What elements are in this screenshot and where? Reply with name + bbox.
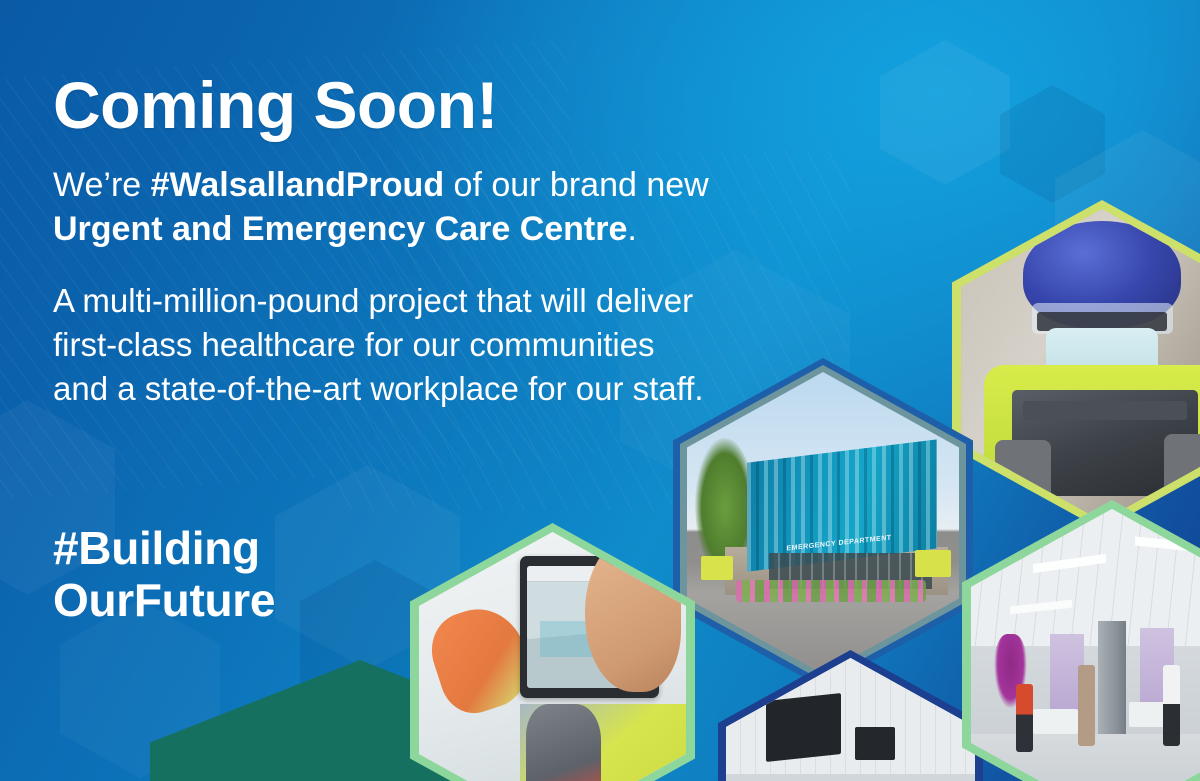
campaign-hashtag-line-2: OurFuture [53,575,275,627]
ward-person-3 [1163,665,1180,746]
grey-glove [526,704,601,781]
building-render-photo: EMERGENCY DEPARTMENT [687,372,959,674]
brand-hashtag: #WalsallandProud [151,166,444,204]
ward-person-1 [1016,684,1033,753]
ambulance-right [915,550,950,577]
ceiling-screen-small [855,727,895,760]
campaign-hashtag-line-1: #Building [53,523,275,575]
lead-paragraph: We’re #WalsallandProud of our brand new … [53,164,813,251]
bg-hexagon-1 [880,40,1010,185]
ward-person-2 [1078,665,1095,746]
ambulance-left [701,556,734,580]
lead-middle: of our brand new [444,166,709,204]
ward-bed-1 [1033,709,1078,734]
page-title: Coming Soon! [53,72,813,138]
promotional-banner: Coming Soon! We’re #WalsallandProud of o… [0,0,1200,781]
ceiling-screen-large [766,693,841,762]
campaign-hashtag: #Building OurFuture [53,523,275,626]
lead-prefix: We’re [53,166,151,204]
banner-text-column: Coming Soon! We’re #WalsallandProud of o… [53,72,813,411]
render-planting [736,580,926,601]
body-copy: A multi-million-pound project that will … [53,279,713,411]
facility-name: Urgent and Emergency Care Centre [53,210,627,248]
lead-suffix: . [627,210,636,248]
